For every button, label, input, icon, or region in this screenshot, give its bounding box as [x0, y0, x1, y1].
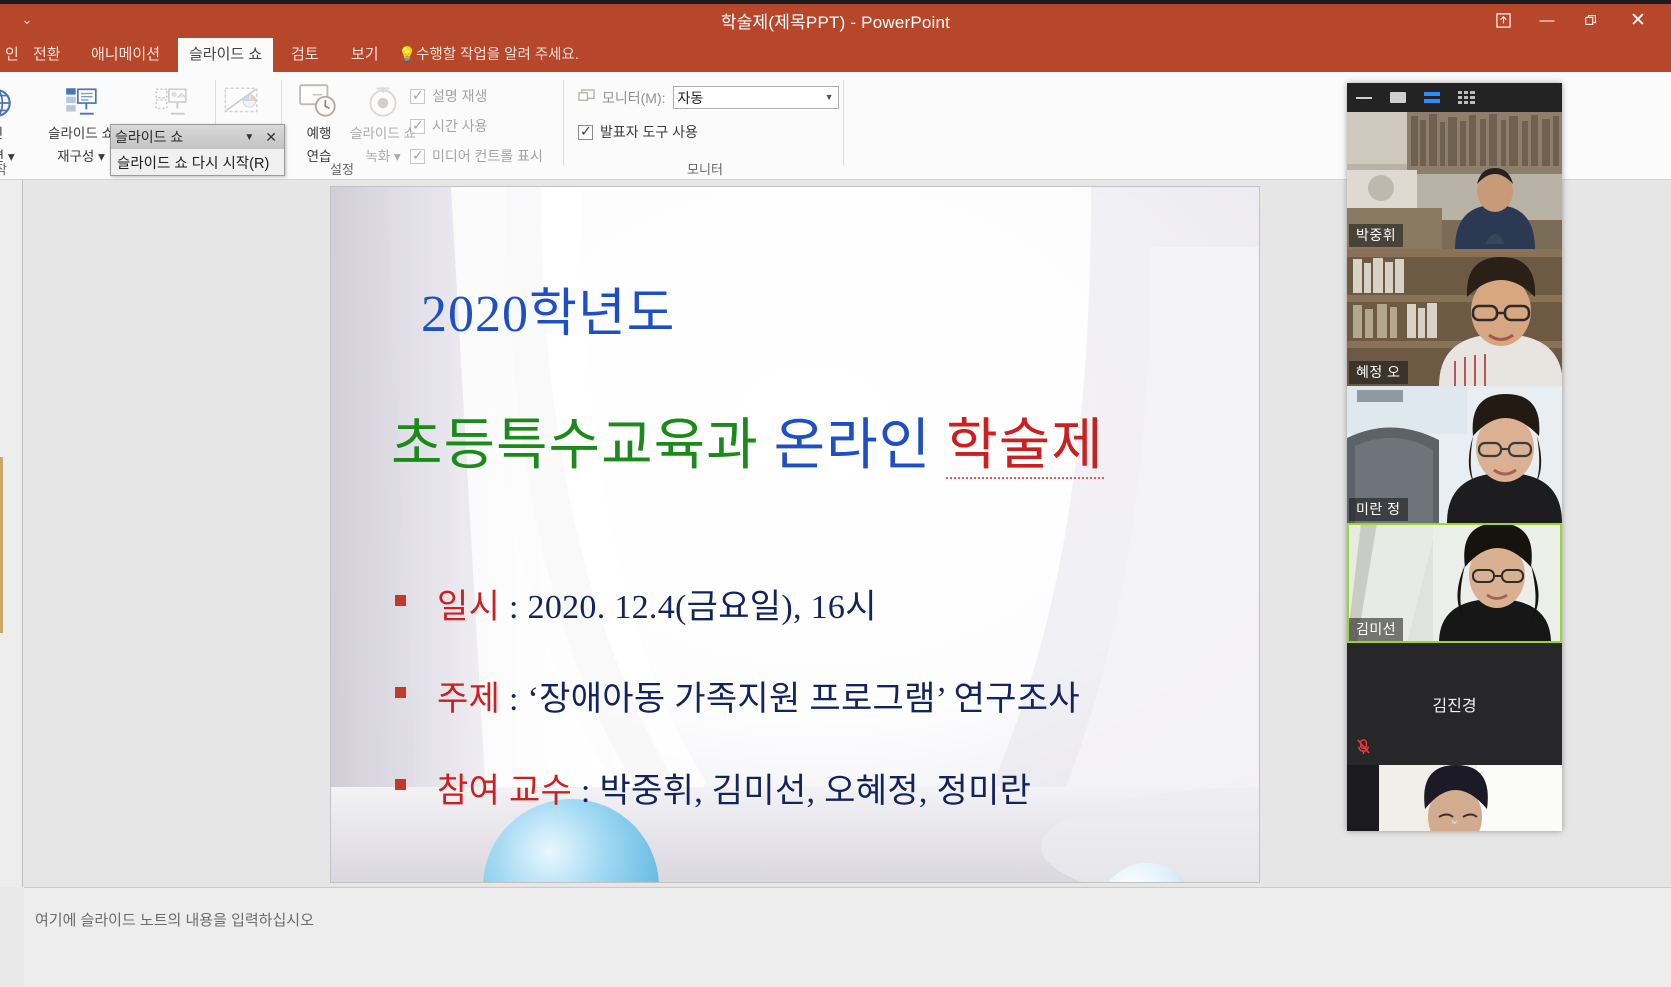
- bullet-value: : 박중휘, 김미선, 오혜정, 정미란: [572, 773, 1031, 810]
- zoom-view-toolbar: [1347, 83, 1562, 112]
- ribbon-group-monitors: 모니터(M): 자동 ▼ 발표자 도구 사용 모니터: [566, 72, 844, 180]
- custom-show-icon: [44, 78, 118, 120]
- chevron-down-icon[interactable]: ⌄: [1347, 810, 1562, 828]
- zoom-meeting-window[interactable]: 박중휘 혜정 오: [1347, 83, 1562, 831]
- floating-toolbar-title: 슬라이드 쇼: [115, 127, 236, 147]
- tab-animations[interactable]: 애니메이션: [80, 38, 171, 72]
- monitor-select-row: 모니터(M): 자동 ▼: [578, 86, 839, 109]
- title-part-online: 온라인: [774, 415, 932, 477]
- window-controls: — ✕: [1481, 4, 1663, 36]
- checkbox-show-media-controls[interactable]: 미디어 컨트롤 표시: [410, 146, 543, 166]
- participant-name: 미란 정: [1349, 498, 1408, 521]
- bullet-value: : 2020. 12.4(금요일), 16시: [500, 589, 877, 626]
- window-title: 학술제(제목PPT) - PowerPoint: [0, 8, 1671, 33]
- notes-pane[interactable]: 여기에 슬라이드 노트의 내용을 입력하십시오: [24, 887, 1671, 987]
- bullet-key: 참여 교수: [437, 773, 572, 810]
- checkbox-play-narrations-box[interactable]: [410, 89, 425, 104]
- minimize-button[interactable]: —: [1525, 5, 1569, 35]
- bullet-marker-icon: [395, 687, 406, 698]
- checkbox-use-timings[interactable]: 시간 사용: [410, 116, 487, 136]
- bullet-marker-icon: [395, 595, 406, 606]
- ribbon-display-options-icon[interactable]: [1481, 5, 1525, 35]
- participant-tile[interactable]: 박중휘: [1347, 112, 1562, 249]
- monitor-label: 모니터(M):: [602, 88, 666, 108]
- floating-toolbar-titlebar[interactable]: 슬라이드 쇼 ▼ ✕: [111, 125, 284, 149]
- present-online-button[interactable]: 인 이션 ▾: [0, 78, 34, 166]
- checkbox-use-timings-box[interactable]: [410, 119, 425, 134]
- ribbon-group-title-monitors: 모니터: [566, 159, 844, 178]
- mic-muted-icon: [1355, 738, 1372, 759]
- maximize-icon[interactable]: [1381, 83, 1415, 112]
- participant-tile-active[interactable]: 김미선: [1347, 523, 1562, 643]
- restore-button[interactable]: [1569, 5, 1613, 35]
- tell-me-label: 수행할 작업을 알려 주세요.: [416, 47, 579, 63]
- ribbon-group-title-setup: 설정: [282, 159, 402, 178]
- tab-transitions[interactable]: 전환: [22, 38, 72, 72]
- slide-title[interactable]: 2020학년도 초등특수교육과 온라인 학술제: [391, 271, 1221, 481]
- tell-me-box[interactable]: 💡 수행할 작업을 알려 주세요.: [398, 38, 579, 72]
- thumbnail-selection-marker: [0, 457, 3, 633]
- ribbon-tab-bar: 인 전환 애니메이션 슬라이드 쇼 검토 보기 💡 수행할 작업을 알려 주세요…: [0, 38, 1671, 72]
- tab-review[interactable]: 검토: [280, 38, 330, 72]
- bullet-item: 참여 교수 : 박중휘, 김미선, 오혜정, 정미란: [373, 763, 1233, 812]
- participant-name: 혜정 오: [1349, 361, 1408, 384]
- checkbox-play-narrations-label: 설명 재생: [432, 86, 487, 106]
- bullet-item: 일시 : 2020. 12.4(금요일), 16시: [373, 579, 1233, 628]
- gallery-view-icon[interactable]: [1449, 83, 1483, 112]
- close-icon[interactable]: ✕: [262, 129, 280, 146]
- title-bar: ⌄ 학술제(제목PPT) - PowerPoint — ✕: [0, 0, 1671, 38]
- chevron-down-icon[interactable]: ▼: [825, 92, 834, 102]
- monitor-combobox-value: 자동: [678, 90, 704, 106]
- present-online-label-top: 인: [0, 124, 34, 143]
- minimize-icon[interactable]: [1347, 83, 1381, 112]
- from-current-icon: [204, 78, 278, 120]
- custom-slide-show-label-top: 슬라이드 쇼: [44, 124, 118, 143]
- powerpoint-window: ⌄ 학술제(제목PPT) - PowerPoint — ✕ 인 전환 애니메이션…: [0, 0, 1671, 987]
- participant-tile[interactable]: 혜정 오: [1347, 249, 1562, 386]
- slide-thumbnail-pane[interactable]: [0, 180, 23, 887]
- bullet-key: 주제: [437, 681, 500, 718]
- bullet-marker-icon: [395, 779, 406, 790]
- checkbox-use-timings-label: 시간 사용: [432, 116, 487, 136]
- group-separator: [563, 80, 564, 166]
- bullet-key: 일시: [437, 589, 500, 626]
- group-separator: [843, 80, 844, 166]
- slide-canvas[interactable]: 2020학년도 초등특수교육과 온라인 학술제 일시 : 2020. 12.4(…: [330, 186, 1260, 883]
- checkbox-show-media-controls-box[interactable]: [410, 149, 425, 164]
- checkbox-use-presenter-view-label: 발표자 도구 사용: [600, 122, 698, 142]
- checkbox-play-narrations[interactable]: 설명 재생: [410, 86, 487, 106]
- from-beginning-icon: [134, 78, 208, 120]
- split-view-icon[interactable]: [1415, 83, 1449, 112]
- chevron-down-icon[interactable]: ▼: [236, 132, 262, 143]
- participant-tile[interactable]: 미란 정: [1347, 386, 1562, 523]
- checkbox-use-presenter-view-box[interactable]: [578, 125, 593, 140]
- notes-placeholder: 여기에 슬라이드 노트의 내용을 입력하십시오: [35, 909, 314, 930]
- tab-view[interactable]: 보기: [340, 38, 390, 72]
- globe-icon: [0, 78, 34, 120]
- slide-title-line2: 초등특수교육과 온라인 학술제: [391, 400, 1221, 481]
- ribbon-group-setup: 예행 연습 슬라이드 쇼 녹화 ▾ 설명 재생: [282, 72, 564, 180]
- tab-slide-show[interactable]: 슬라이드 쇼: [178, 38, 273, 72]
- title-part-festival: 학술제: [946, 415, 1104, 479]
- slide-show-floating-toolbar[interactable]: 슬라이드 쇼 ▼ ✕ 슬라이드 쇼 다시 시작(R): [110, 124, 285, 176]
- monitor-icon: [578, 89, 595, 107]
- ribbon-group-title-start: 작: [0, 159, 56, 178]
- bullet-value: : ‘장애아동 가족지원 프로그램’ 연구조사: [500, 681, 1080, 718]
- close-button[interactable]: ✕: [1613, 5, 1663, 35]
- participant-tile-novideo[interactable]: 김진경: [1347, 643, 1562, 765]
- lightbulb-icon: 💡: [398, 38, 412, 72]
- custom-slide-show-button[interactable]: 슬라이드 쇼 재구성 ▾: [44, 78, 118, 166]
- slide-body-bullets[interactable]: 일시 : 2020. 12.4(금요일), 16시 주제 : ‘장애아동 가족지…: [373, 579, 1233, 855]
- monitor-combobox[interactable]: 자동 ▼: [673, 86, 839, 109]
- slide-title-line1: 2020학년도: [391, 271, 1221, 346]
- title-part-subject: 초등특수교육과: [391, 415, 759, 477]
- checkbox-show-media-controls-label: 미디어 컨트롤 표시: [432, 146, 543, 166]
- screen-top-strip: [0, 0, 1671, 4]
- participant-name: 박중휘: [1349, 224, 1403, 247]
- menu-item-restart-show[interactable]: 슬라이드 쇼 다시 시작(R): [111, 149, 284, 175]
- participant-name: 김미선: [1349, 618, 1403, 641]
- checkbox-use-presenter-view[interactable]: 발표자 도구 사용: [578, 122, 698, 142]
- participant-name: 김진경: [1347, 643, 1562, 765]
- bullet-item: 주제 : ‘장애아동 가족지원 프로그램’ 연구조사: [373, 671, 1233, 720]
